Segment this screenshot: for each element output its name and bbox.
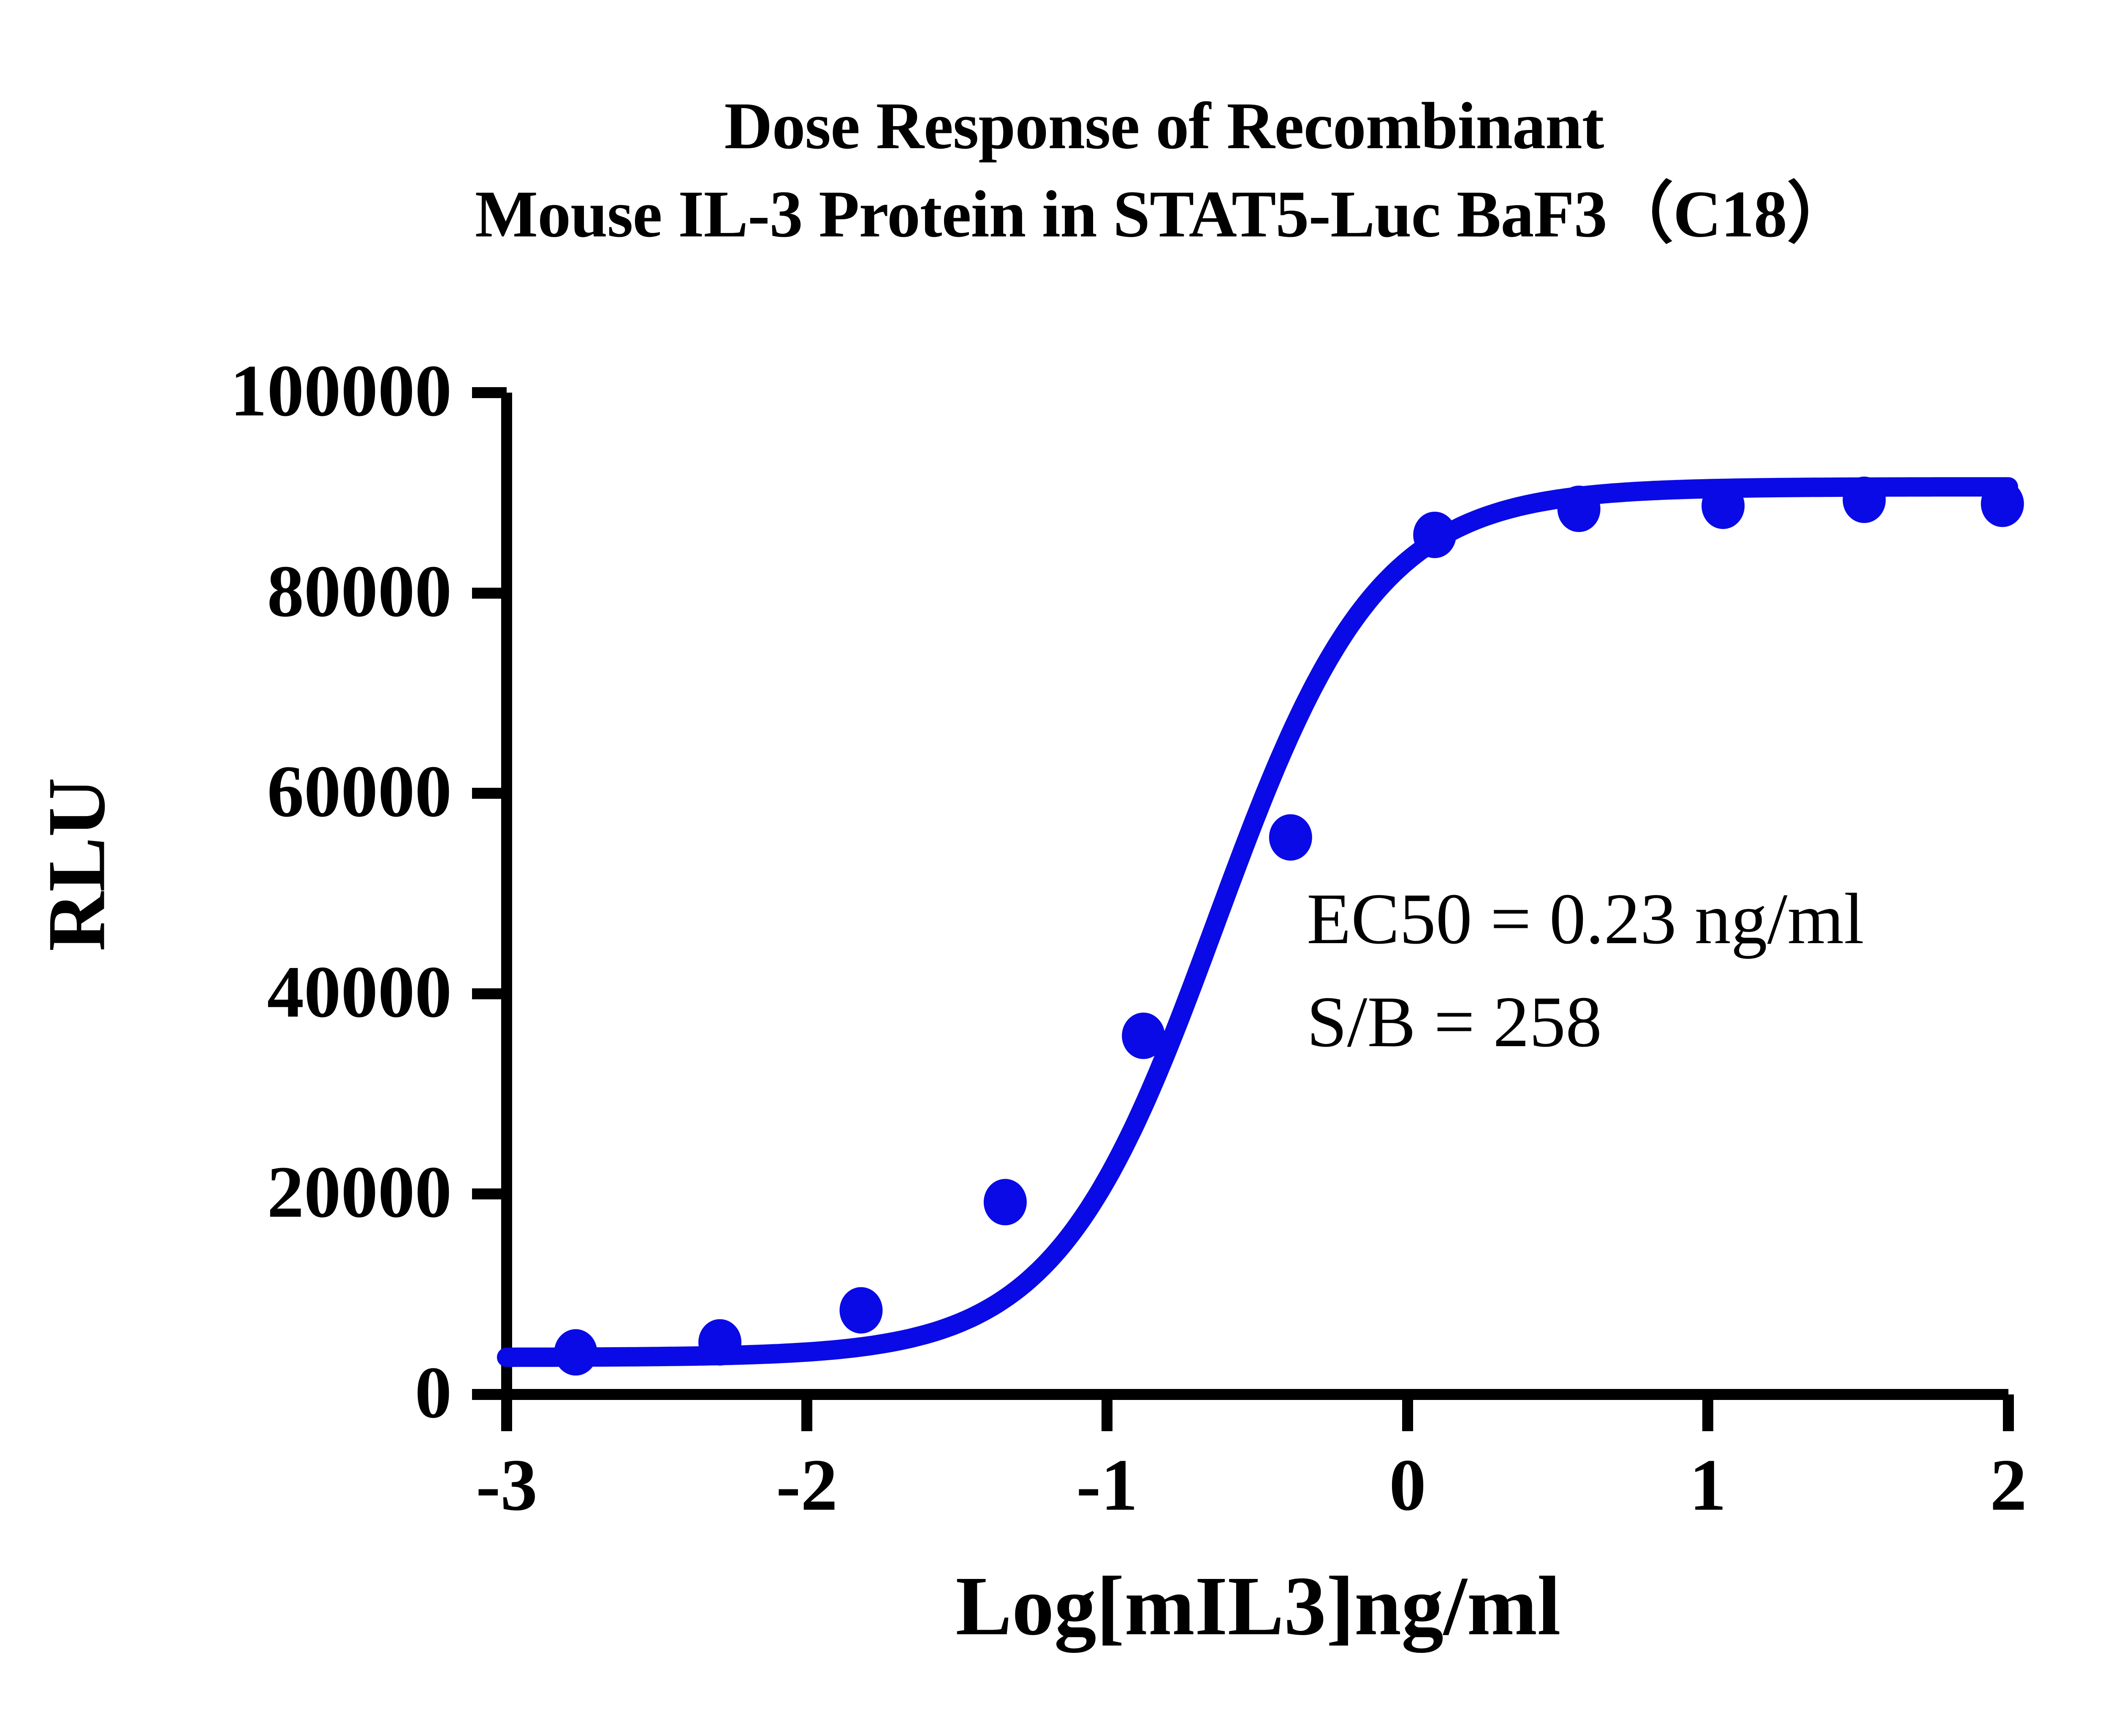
- ytick-label-20000: 20000: [0, 1155, 452, 1229]
- data-point: [984, 1179, 1027, 1225]
- plot-area: 100000 80000 60000 40000 20000 0 -3 -2 -…: [0, 0, 2111, 1736]
- data-point: [1701, 483, 1745, 529]
- xtick-label-1: 1: [1623, 1448, 1792, 1522]
- xtick-label-neg1: -1: [1023, 1448, 1191, 1522]
- y-axis-title: RLU: [36, 696, 118, 1033]
- data-point: [554, 1329, 597, 1375]
- ytick-label-100000: 100000: [0, 354, 452, 428]
- xtick-label-0: 0: [1323, 1448, 1492, 1522]
- ytick-label-80000: 80000: [0, 554, 452, 628]
- data-point: [1269, 814, 1312, 861]
- x-axis-ticks: [507, 1394, 2008, 1431]
- data-point: [698, 1319, 741, 1366]
- data-point: [1843, 477, 1886, 523]
- data-point: [1981, 480, 2024, 527]
- xtick-label-neg3: -3: [422, 1448, 591, 1522]
- annotation-block: EC50 = 0.23 ng/ml S/B = 258: [1307, 868, 1864, 1074]
- data-point: [1122, 1013, 1165, 1059]
- ytick-label-0: 0: [0, 1356, 452, 1429]
- annotation-ec50: EC50 = 0.23 ng/ml: [1307, 868, 1864, 971]
- annotation-signal-to-background: S/B = 258: [1307, 971, 1864, 1074]
- x-axis-title: Log[mIL3]ng/ml: [507, 1564, 2010, 1649]
- data-point: [1413, 512, 1456, 558]
- xtick-label-2: 2: [1924, 1448, 2093, 1522]
- xtick-label-neg2: -2: [722, 1448, 891, 1522]
- chart-figure: Dose Response of Recombinant Mouse IL-3 …: [0, 0, 2111, 1736]
- data-point: [840, 1287, 883, 1334]
- data-point: [1557, 486, 1601, 532]
